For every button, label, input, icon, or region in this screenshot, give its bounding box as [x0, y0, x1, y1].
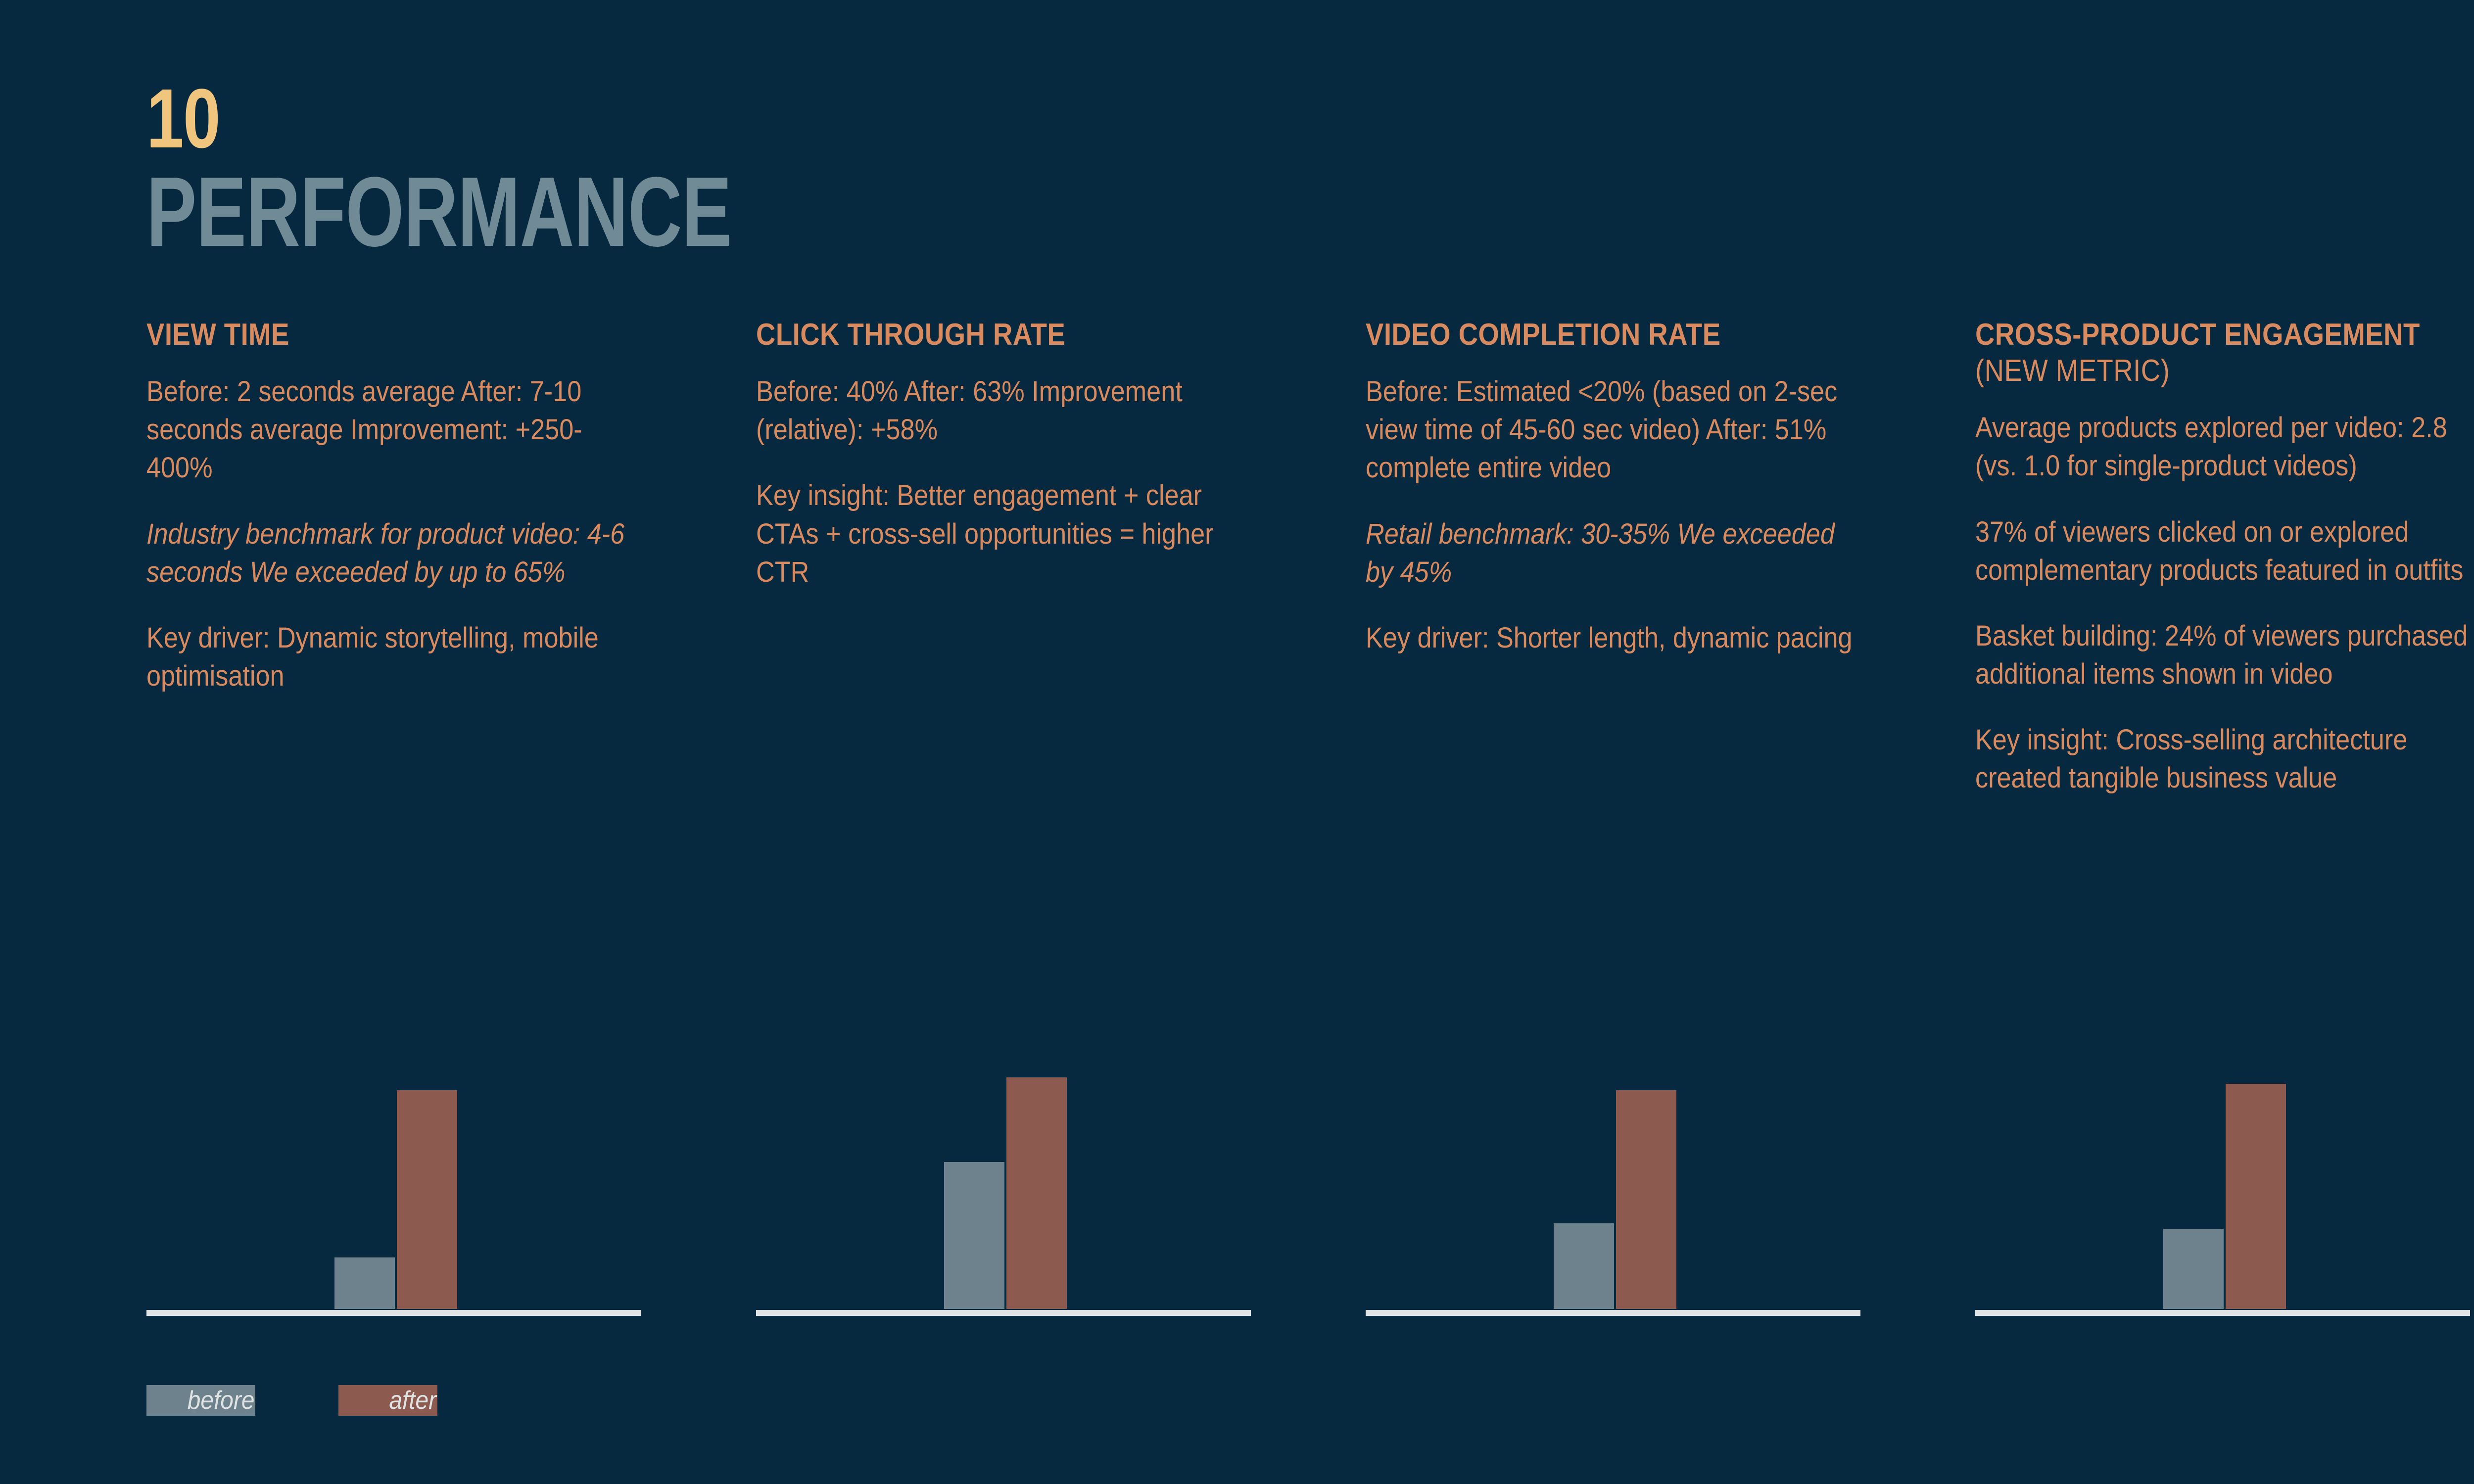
chart-plot-area	[1366, 1052, 1860, 1309]
bar-chart-view-time	[146, 1049, 756, 1316]
column-heading: CLICK THROUGH RATE	[756, 317, 1240, 353]
legend-swatch-after: after	[338, 1385, 437, 1416]
chart-baseline	[1366, 1310, 1860, 1316]
column-heading: VIEW TIME	[146, 317, 631, 353]
bar-after	[1616, 1090, 1676, 1309]
chart-baseline	[146, 1310, 641, 1316]
column-heading-bold: VIEW TIME	[146, 318, 289, 352]
column-heading-bold: CROSS-PRODUCT ENGAGEMENT	[1975, 318, 2420, 352]
metric-column-video-completion-rate: VIDEO COMPLETION RATE Before: Estimated …	[1366, 317, 1975, 797]
metric-paragraph: Before: 2 seconds average After: 7-10 se…	[146, 372, 642, 487]
metric-column-click-through-rate: CLICK THROUGH RATE Before: 40% After: 63…	[756, 317, 1366, 797]
chart-baseline	[1975, 1310, 2470, 1316]
slide-number: 10	[146, 79, 762, 159]
bar-before	[1554, 1223, 1614, 1309]
page-title: PERFORMANCE	[146, 165, 731, 259]
metric-paragraph: 37% of viewers clicked on or explored co…	[1975, 513, 2471, 589]
metric-key-driver: Key driver: Dynamic storytelling, mobile…	[146, 619, 642, 695]
bar-chart-click-through-rate	[756, 1049, 1366, 1316]
metric-key-insight: Key insight: Cross-selling architecture …	[1975, 721, 2471, 797]
metric-benchmark-note: Industry benchmark for product video: 4-…	[146, 515, 642, 591]
metric-paragraph: Basket building: 24% of viewers purchase…	[1975, 617, 2471, 693]
column-heading-bold: VIDEO COMPLETION RATE	[1366, 318, 1721, 352]
metric-column-cross-product-engagement: CROSS-PRODUCT ENGAGEMENT (NEW METRIC) Av…	[1975, 317, 2474, 797]
metric-benchmark-note: Retail benchmark: 30-35% We exceeded by …	[1366, 515, 1861, 591]
slide-header: 10 PERFORMANCE	[146, 79, 916, 259]
legend-label-before: before	[187, 1386, 254, 1415]
chart-plot-area	[1975, 1052, 2470, 1309]
slide-canvas: 10 PERFORMANCE VIEW TIME Before: 2 secon…	[0, 0, 2474, 1484]
chart-plot-area	[146, 1052, 641, 1309]
bar-after	[2226, 1084, 2286, 1309]
bar-chart-video-completion-rate	[1366, 1049, 1975, 1316]
metric-columns: VIEW TIME Before: 2 seconds average Afte…	[146, 317, 2474, 797]
chart-plot-area	[756, 1052, 1251, 1309]
bar-before	[334, 1257, 395, 1309]
metric-key-insight: Key insight: Better engagement + clear C…	[756, 476, 1251, 591]
bar-after	[1006, 1077, 1067, 1309]
legend-swatch-before: before	[146, 1385, 255, 1416]
bar-after	[397, 1090, 457, 1309]
legend-label-after: after	[389, 1386, 436, 1415]
metric-column-view-time: VIEW TIME Before: 2 seconds average Afte…	[146, 317, 756, 797]
chart-legend: before after	[146, 1385, 437, 1416]
bar-chart-cross-product-engagement	[1975, 1049, 2474, 1316]
charts-row	[146, 1049, 2474, 1316]
bar-before	[2163, 1229, 2224, 1309]
metric-key-driver: Key driver: Shorter length, dynamic paci…	[1366, 619, 1861, 657]
column-heading-bold: CLICK THROUGH RATE	[756, 318, 1065, 352]
metric-paragraph: Before: 40% After: 63% Improvement (rela…	[756, 372, 1251, 449]
bar-before	[944, 1162, 1004, 1309]
column-heading-light: (NEW METRIC)	[1975, 354, 2170, 388]
chart-baseline	[756, 1310, 1251, 1316]
metric-paragraph: Before: Estimated <20% (based on 2-sec v…	[1366, 372, 1861, 487]
metric-paragraph: Average products explored per video: 2.8…	[1975, 409, 2471, 485]
column-heading: CROSS-PRODUCT ENGAGEMENT (NEW METRIC)	[1975, 317, 2460, 389]
column-heading: VIDEO COMPLETION RATE	[1366, 317, 1850, 353]
